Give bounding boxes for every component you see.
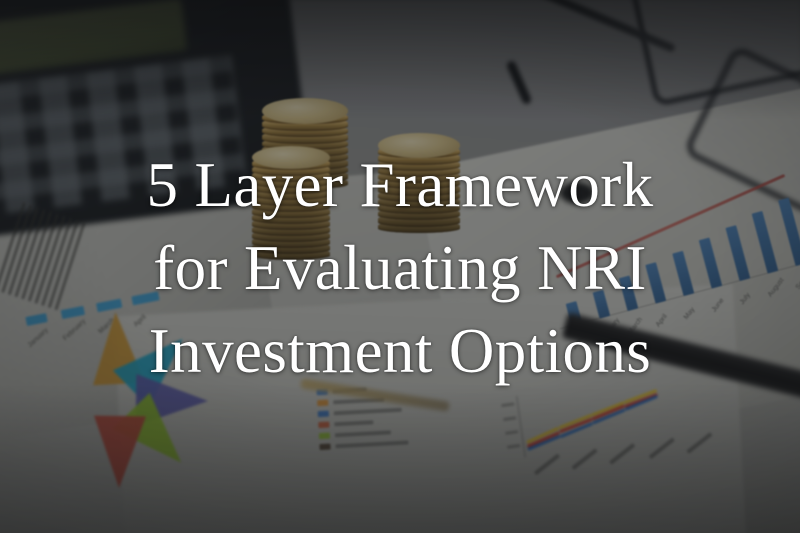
legend-label: [334, 420, 373, 426]
coin-stack-front: [252, 152, 330, 262]
line-chart-tick: [501, 402, 514, 407]
legend-label: [335, 440, 408, 448]
legend-swatch: [318, 410, 329, 417]
line-chart-tick: [507, 444, 520, 449]
line-chart-tick: [503, 416, 516, 421]
bar-chart-bar: [778, 198, 800, 266]
coin-top-face: [262, 98, 348, 124]
bar-chart-month-label: June: [711, 297, 726, 313]
legend-label: [334, 407, 402, 415]
coin-stack-right: [378, 140, 460, 235]
bar-chart-bar: [699, 237, 723, 288]
coin-top-face: [252, 146, 330, 169]
bar-chart-month-label: April: [655, 313, 669, 328]
line-chart-axis: [516, 396, 526, 458]
legend-swatch: [319, 432, 330, 439]
pie-chart-wedge: [93, 416, 146, 489]
line-chart-x-label: [609, 443, 635, 465]
coin-top-face: [378, 133, 460, 158]
bar-chart-bar: [619, 276, 638, 311]
bar-chart-bar: [593, 289, 611, 318]
bar-chart-bar: [131, 291, 159, 305]
legend-swatch: [318, 421, 329, 428]
bar-chart-month-label: July: [739, 292, 752, 306]
line-chart-x-label: [686, 432, 712, 454]
bar-chart-bar: [96, 299, 122, 313]
line-chart-x-label: [572, 448, 598, 470]
bar-chart-bar: [725, 225, 750, 281]
legend-swatch: [319, 443, 330, 450]
pie-chart: [0, 330, 270, 520]
bar-chart-bar: [645, 263, 666, 304]
line-chart-tick: [505, 430, 518, 435]
desk-object-dark: [560, 182, 594, 204]
bar-chart-month-label: May: [683, 306, 697, 321]
legend-label: [335, 430, 391, 437]
bar-chart-bar: [672, 251, 694, 296]
hero-banner: JanuaryFebruaryMarchApril JanuaryFebruar…: [0, 0, 800, 533]
bar-chart-bar: [752, 211, 779, 274]
line-chart-x-label: [649, 437, 675, 459]
legend-swatch: [317, 399, 328, 406]
bar-chart-bar: [25, 313, 47, 326]
background-photo: JanuaryFebruaryMarchApril JanuaryFebruar…: [0, 0, 800, 533]
bar-chart-month-label: August: [767, 277, 786, 299]
line-chart-x-label: [534, 454, 560, 476]
